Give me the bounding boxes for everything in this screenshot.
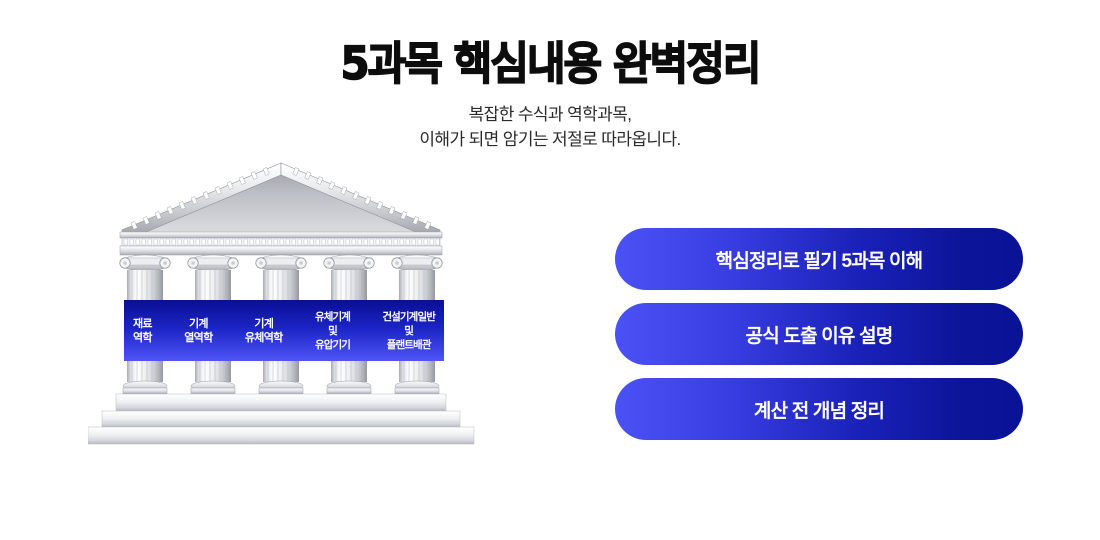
subject-item-4: 건설기계일반 및 플랜트배관 [382,310,435,352]
subtitle-line-1: 복잡한 수식과 역학과목, [0,102,1100,127]
feature-button-1[interactable]: 공식 도출 이유 설명 [615,303,1023,365]
subject-line: 유체역학 [245,331,283,345]
feature-button-2[interactable]: 계산 전 개념 정리 [615,378,1023,440]
feature-button-list: 핵심정리로 필기 5과목 이해 공식 도출 이유 설명 계산 전 개념 정리 [615,228,1023,440]
subject-line: 유체기계 [315,310,350,324]
page-subtitle: 복잡한 수식과 역학과목, 이해가 되면 암기는 저절로 따라옵니다. [0,90,1100,152]
subject-item-2: 기계 유체역학 [245,317,283,345]
subject-line: 역학 [133,331,152,345]
subject-line: 재료 [133,317,152,331]
subtitle-line-2: 이해가 되면 암기는 저절로 따라옵니다. [0,127,1100,152]
subject-line: 기계 [184,317,212,331]
subject-line: 기계 [245,317,283,331]
subject-item-1: 기계 열역학 [184,317,212,345]
page-title: 5과목 핵심내용 완벽정리 [39,0,1062,90]
subject-item-3: 유체기계 및 유압기기 [315,310,350,352]
subject-line: 유압기기 [315,338,350,352]
subject-line: 및 [382,324,435,338]
subject-line: 및 [315,324,350,338]
feature-button-0[interactable]: 핵심정리로 필기 5과목 이해 [615,228,1023,290]
header-section: 5과목 핵심내용 완벽정리 복잡한 수식과 역학과목, 이해가 되면 암기는 저… [0,0,1100,152]
subject-line: 플랜트배관 [382,338,435,352]
subject-line: 열역학 [184,331,212,345]
subject-line: 건설기계일반 [382,310,435,324]
subject-item-0: 재료 역학 [133,317,152,345]
subject-banner: 재료 역학 기계 열역학 기계 유체역학 유체기계 및 유압기기 건설기계일반 … [124,300,444,361]
